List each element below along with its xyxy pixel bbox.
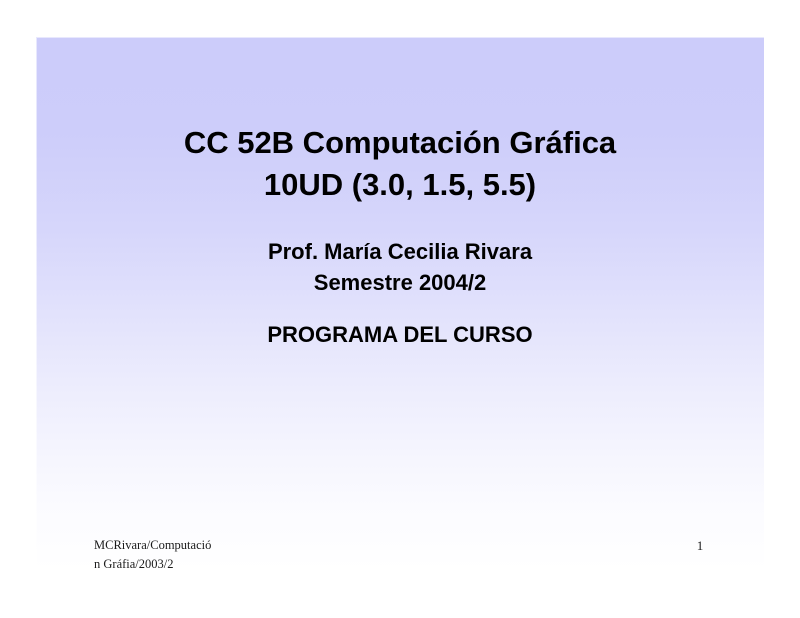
slide-title-line-1: CC 52B Computación Gráfica xyxy=(36,122,764,164)
slide-section-heading-block: PROGRAMA DEL CURSO xyxy=(36,320,764,350)
slide-title: CC 52B Computación Gráfica 10UD (3.0, 1.… xyxy=(36,122,764,206)
slide-author-block: Prof. María Cecilia Rivara Semestre 2004… xyxy=(36,236,764,298)
footer-credit-line-1: MCRivara/Computació xyxy=(94,536,264,555)
slide-title-line-2: 10UD (3.0, 1.5, 5.5) xyxy=(36,164,764,206)
semester-label: Semestre 2004/2 xyxy=(36,267,764,298)
slide-background-panel xyxy=(36,37,764,570)
slide-page: CC 52B Computación Gráfica 10UD (3.0, 1.… xyxy=(0,0,800,618)
author-name: Prof. María Cecilia Rivara xyxy=(36,236,764,267)
footer-credit: MCRivara/Computació n Gráfia/2003/2 xyxy=(94,536,264,574)
footer-credit-line-2: n Gráfia/2003/2 xyxy=(94,555,264,574)
section-heading: PROGRAMA DEL CURSO xyxy=(36,320,764,350)
page-number: 1 xyxy=(690,536,710,555)
